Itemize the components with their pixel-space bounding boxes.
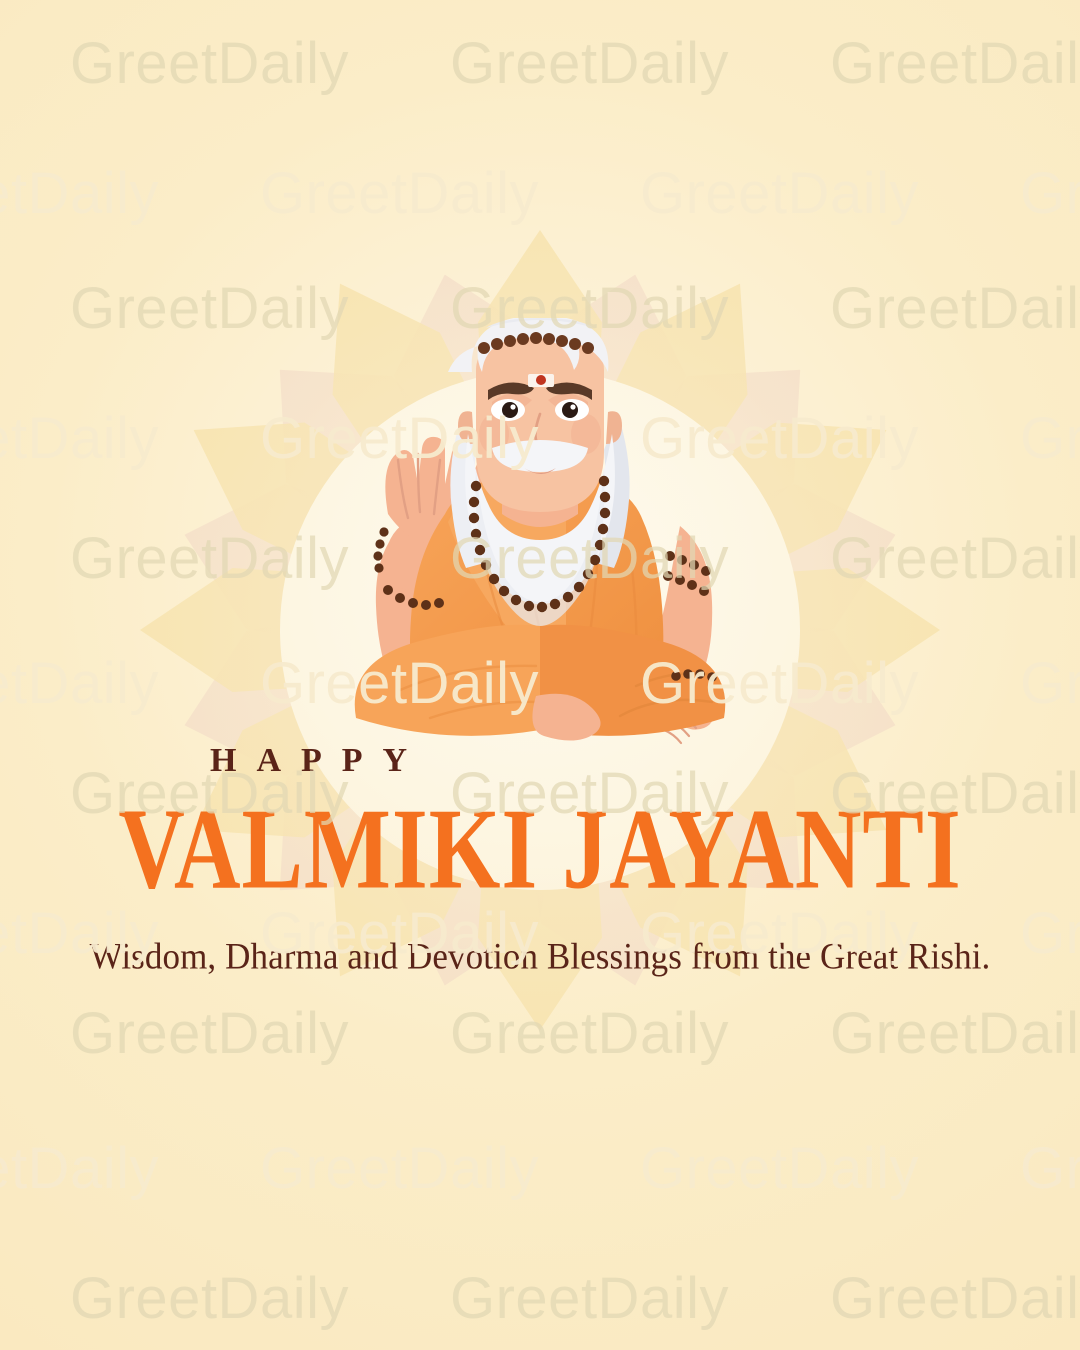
- greeting-card: HAPPY VALMIKI JAYANTI Wisdom, Dharma and…: [0, 0, 1080, 1350]
- greeting-text-block: HAPPY VALMIKI JAYANTI Wisdom, Dharma and…: [0, 744, 1080, 977]
- watermark-text: GreetDaily: [0, 650, 159, 717]
- watermark-text: GreetDaily: [830, 1000, 1080, 1067]
- watermark-text: GreetDaily: [0, 1135, 159, 1202]
- watermark-text: GreetDaily: [1020, 160, 1080, 227]
- watermark-text: GreetDaily: [1020, 405, 1080, 472]
- greeting-eyebrow: HAPPY: [0, 744, 1080, 778]
- watermark-text: GreetDaily: [830, 275, 1080, 342]
- watermark-text: GreetDaily: [260, 1135, 539, 1202]
- watermark-text: GreetDaily: [640, 1135, 919, 1202]
- watermark-text: GreetDaily: [1020, 650, 1080, 717]
- greeting-subtitle: Wisdom, Dharma and Devotion Blessings fr…: [0, 936, 1080, 978]
- watermark-text: GreetDaily: [640, 160, 919, 227]
- watermark-text: GreetDaily: [70, 1265, 349, 1332]
- watermark-text: GreetDaily: [260, 160, 539, 227]
- watermark-text: GreetDaily: [830, 1265, 1080, 1332]
- watermark-text: GreetDaily: [70, 30, 349, 97]
- watermark-text: GreetDaily: [1020, 1135, 1080, 1202]
- watermark-text: GreetDaily: [450, 30, 729, 97]
- watermark-text: GreetDaily: [70, 1000, 349, 1067]
- watermark-text: GreetDaily: [0, 405, 159, 472]
- sage-illustration: [280, 318, 800, 788]
- watermark-text: GreetDaily: [450, 1265, 729, 1332]
- greeting-title: VALMIKI JAYANTI: [16, 790, 1064, 908]
- watermark-text: GreetDaily: [830, 30, 1080, 97]
- watermark-text: GreetDaily: [450, 1000, 729, 1067]
- watermark-text: GreetDaily: [0, 160, 159, 227]
